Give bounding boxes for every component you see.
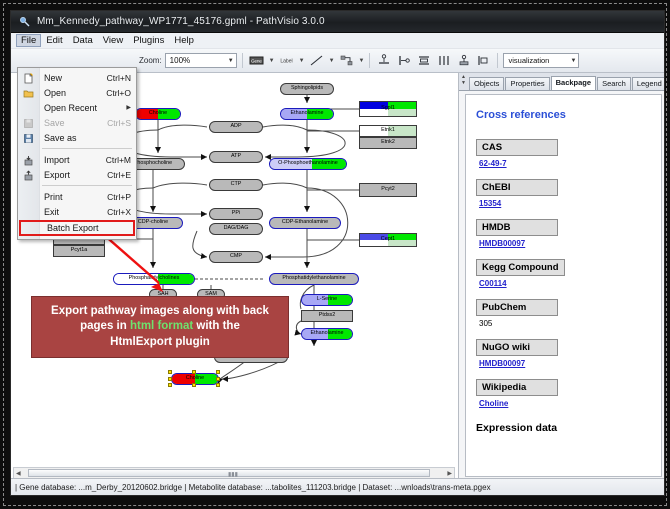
expression-data-heading: Expression data bbox=[476, 422, 651, 434]
menu-edit[interactable]: Edit bbox=[41, 34, 67, 47]
pathway-node-etnk1[interactable]: Etnk1 bbox=[359, 125, 417, 137]
zoom-label: Zoom: bbox=[139, 56, 162, 65]
pathway-node-l-serine[interactable]: L-Serine bbox=[301, 294, 353, 306]
tab-legend[interactable]: Legend bbox=[632, 77, 665, 90]
chevron-down-icon-2: ▼ bbox=[571, 58, 577, 64]
import-icon bbox=[22, 154, 34, 166]
interaction-tool-icon[interactable] bbox=[338, 52, 355, 69]
xref-source-label: Kegg Compound bbox=[476, 259, 565, 276]
annotation-line2-prefix: pages in bbox=[80, 320, 130, 332]
pathway-node-atp[interactable]: ATP bbox=[209, 151, 263, 163]
file-menu-item-new[interactable]: New Ctrl+N bbox=[18, 70, 136, 85]
xref-pubchem: PubChem 305 bbox=[476, 297, 651, 328]
pathway-node-cdp-ethanolamine[interactable]: CDP-Ethanolamine bbox=[269, 217, 341, 229]
pathway-node-ptdss2[interactable]: Ptdss2 bbox=[301, 310, 353, 322]
toolbar-separator-2 bbox=[369, 53, 370, 68]
scrollbar-grip-icon: ▮▮▮ bbox=[228, 471, 238, 478]
stack-center-icon[interactable] bbox=[455, 52, 472, 69]
xref-source-label: PubChem bbox=[476, 299, 558, 316]
side-panel-tabstrip: ▲▼ Objects Properties Backpage Search Le… bbox=[459, 73, 665, 91]
save-disk-icon bbox=[22, 117, 34, 129]
pathvisio-window: Mm_Kennedy_pathway_WP1771_45176.gpml - P… bbox=[10, 10, 665, 496]
tab-objects[interactable]: Objects bbox=[469, 77, 504, 90]
label-tool-chevron-icon[interactable]: ▼ bbox=[299, 58, 305, 64]
tab-properties[interactable]: Properties bbox=[505, 77, 549, 90]
file-menu-item-import[interactable]: Import Ctrl+M bbox=[18, 152, 136, 167]
export-icon bbox=[22, 169, 34, 181]
tab-scroll-icon[interactable]: ▲▼ bbox=[461, 74, 466, 86]
pathway-node-o-phosphoethanolamine[interactable]: O-Phosphoethanolamine bbox=[269, 158, 347, 170]
status-bar: | Gene database: ...m_Derby_20120602.bri… bbox=[11, 478, 665, 495]
xref-source-label: HMDB bbox=[476, 219, 558, 236]
menu-data[interactable]: Data bbox=[68, 34, 98, 47]
file-menu-item-export[interactable]: Export Ctrl+E bbox=[18, 167, 136, 182]
save-as-icon bbox=[22, 132, 34, 144]
submenu-chevron-icon: ▶ bbox=[126, 104, 131, 111]
toolbar-separator-3 bbox=[497, 53, 498, 68]
xref-wikipedia: Wikipedia Choline bbox=[476, 377, 651, 408]
xref-hmdb: HMDB HMDB00097 bbox=[476, 217, 651, 248]
menu-file[interactable]: File bbox=[16, 34, 41, 47]
file-menu-separator-1 bbox=[42, 148, 132, 149]
distribute-vertical-icon[interactable] bbox=[415, 52, 432, 69]
xref-value-link[interactable]: Choline bbox=[479, 399, 651, 408]
xref-value-text: 305 bbox=[479, 319, 651, 328]
pathway-node-cmp[interactable]: CMP bbox=[209, 251, 263, 263]
xref-source-label: NuGO wiki bbox=[476, 339, 558, 356]
distribute-horizontal-icon[interactable] bbox=[435, 52, 452, 69]
file-menu-item-save-as[interactable]: Save as bbox=[18, 130, 136, 145]
pathway-node-cept1[interactable]: Cept1 bbox=[359, 233, 417, 247]
menu-help[interactable]: Help bbox=[169, 34, 199, 47]
line-tool-icon[interactable] bbox=[308, 52, 325, 69]
chevron-down-icon: ▼ bbox=[228, 58, 234, 64]
pathway-node-dag[interactable]: DAG/DAG bbox=[209, 223, 263, 235]
xref-value-link[interactable]: C00114 bbox=[479, 279, 651, 288]
open-folder-icon bbox=[22, 87, 34, 99]
visualization-combo[interactable]: visualization ▼ bbox=[503, 53, 579, 68]
align-top-icon[interactable] bbox=[375, 52, 392, 69]
menu-bar: File Edit Data View Plugins Help bbox=[11, 33, 664, 49]
gene-tool-chevron-icon[interactable]: ▼ bbox=[269, 58, 275, 64]
label-tool-icon[interactable]: Label bbox=[278, 52, 295, 69]
cross-references-heading: Cross references bbox=[476, 109, 651, 121]
pathway-node-ppi[interactable]: PPi bbox=[209, 208, 263, 220]
pathway-node-etnk2[interactable]: Etnk2 bbox=[359, 137, 417, 149]
xref-kegg-compound: Kegg Compound C00114 bbox=[476, 257, 651, 288]
tab-search[interactable]: Search bbox=[597, 77, 631, 90]
file-menu-item-open[interactable]: Open Ctrl+O bbox=[18, 85, 136, 100]
annotation-callout: Export pathway images along with back pa… bbox=[31, 296, 289, 358]
gene-product-tool-icon[interactable]: Gene bbox=[248, 52, 265, 69]
zoom-value: 100% bbox=[170, 56, 190, 65]
scroll-left-icon[interactable]: ◀ bbox=[14, 470, 23, 477]
window-title: Mm_Kennedy_pathway_WP1771_45176.gpml - P… bbox=[37, 16, 325, 27]
new-document-icon bbox=[22, 72, 34, 84]
toolbar-separator bbox=[242, 53, 243, 68]
svg-text:Gene: Gene bbox=[251, 59, 262, 64]
file-menu-item-exit[interactable]: Exit Ctrl+X bbox=[18, 204, 136, 219]
pathway-node-ethanolamine-top[interactable]: Ethanolamine bbox=[280, 108, 334, 120]
side-panel: ▲▼ Objects Properties Backpage Search Le… bbox=[459, 73, 665, 496]
xref-nugo-wiki: NuGO wiki HMDB00097 bbox=[476, 337, 651, 368]
file-menu-item-open-recent[interactable]: Open Recent ▶ bbox=[18, 100, 136, 115]
align-left-icon[interactable] bbox=[395, 52, 412, 69]
screenshot-root: Mm_Kennedy_pathway_WP1771_45176.gpml - P… bbox=[0, 0, 670, 509]
pathway-node-choline[interactable]: Choline bbox=[135, 108, 181, 120]
status-text: | Gene database: ...m_Derby_20120602.bri… bbox=[15, 483, 491, 492]
svg-text:Label: Label bbox=[280, 59, 292, 65]
xref-chebi: ChEBI 15354 bbox=[476, 177, 651, 208]
scroll-right-icon[interactable]: ▶ bbox=[445, 470, 454, 477]
menu-view[interactable]: View bbox=[98, 34, 128, 47]
xref-value-link[interactable]: HMDB00097 bbox=[479, 359, 651, 368]
line-tool-chevron-icon[interactable]: ▼ bbox=[329, 58, 335, 64]
visualization-value: visualization bbox=[508, 56, 549, 65]
file-menu-dropdown[interactable]: New Ctrl+N Open Ctrl+O Open Recent ▶ Sav… bbox=[17, 67, 137, 240]
backpage-content: Cross references CAS 62-49-7 ChEBI 15354… bbox=[465, 94, 662, 477]
annotation-line1: Export pathway images along with back bbox=[51, 305, 269, 317]
zoom-combo[interactable]: 100% ▼ bbox=[165, 53, 237, 68]
pathway-node-pcyt1a[interactable]: Pcyt1a bbox=[53, 245, 105, 257]
file-menu-item-print[interactable]: Print Ctrl+P bbox=[18, 189, 136, 204]
xref-source-label: CAS bbox=[476, 139, 558, 156]
xref-value-link[interactable]: 62-49-7 bbox=[479, 159, 651, 168]
pathway-node-phosphatidylethanolamine[interactable]: Phosphatidylethanolamine bbox=[269, 273, 359, 285]
xref-source-label: ChEBI bbox=[476, 179, 558, 196]
pathway-node-ethanolamine-bottom[interactable]: Ethanolamine bbox=[301, 328, 353, 340]
title-bar: Mm_Kennedy_pathway_WP1771_45176.gpml - P… bbox=[11, 11, 664, 33]
menu-plugins[interactable]: Plugins bbox=[128, 34, 169, 47]
pathvisio-app-icon bbox=[18, 15, 31, 28]
xref-cas: CAS 62-49-7 bbox=[476, 137, 651, 168]
file-menu-item-batch-export[interactable]: Batch Export bbox=[19, 220, 135, 236]
pathway-node-adp[interactable]: ADP bbox=[209, 121, 263, 133]
pathway-node-phosphatidylcholines[interactable]: Phosphatidylcholines bbox=[113, 273, 195, 285]
interaction-tool-chevron-icon[interactable]: ▼ bbox=[359, 58, 365, 64]
file-menu-separator-2 bbox=[42, 185, 132, 186]
align-right-icon[interactable] bbox=[475, 52, 492, 69]
xref-source-label: Wikipedia bbox=[476, 379, 558, 396]
pathway-node-pcyt2[interactable]: Pcyt2 bbox=[359, 183, 417, 197]
file-menu-item-save: Save Ctrl+S bbox=[18, 115, 136, 130]
annotation-highlight: html format bbox=[130, 320, 193, 332]
annotation-line2-suffix: with the bbox=[193, 320, 240, 332]
pathway-node-ctp[interactable]: CTP bbox=[209, 179, 263, 191]
xref-value-link[interactable]: HMDB00097 bbox=[479, 239, 651, 248]
xref-value-link[interactable]: 15354 bbox=[479, 199, 651, 208]
tab-backpage[interactable]: Backpage bbox=[551, 76, 596, 90]
pathway-node-sgpl1[interactable]: Sgpl1 bbox=[359, 101, 417, 117]
pathway-node-sphingolipids[interactable]: Sphingolipids bbox=[280, 83, 334, 95]
annotation-line3: HtmlExport plugin bbox=[110, 336, 210, 348]
annotation-text: Export pathway images along with back pa… bbox=[51, 304, 269, 351]
